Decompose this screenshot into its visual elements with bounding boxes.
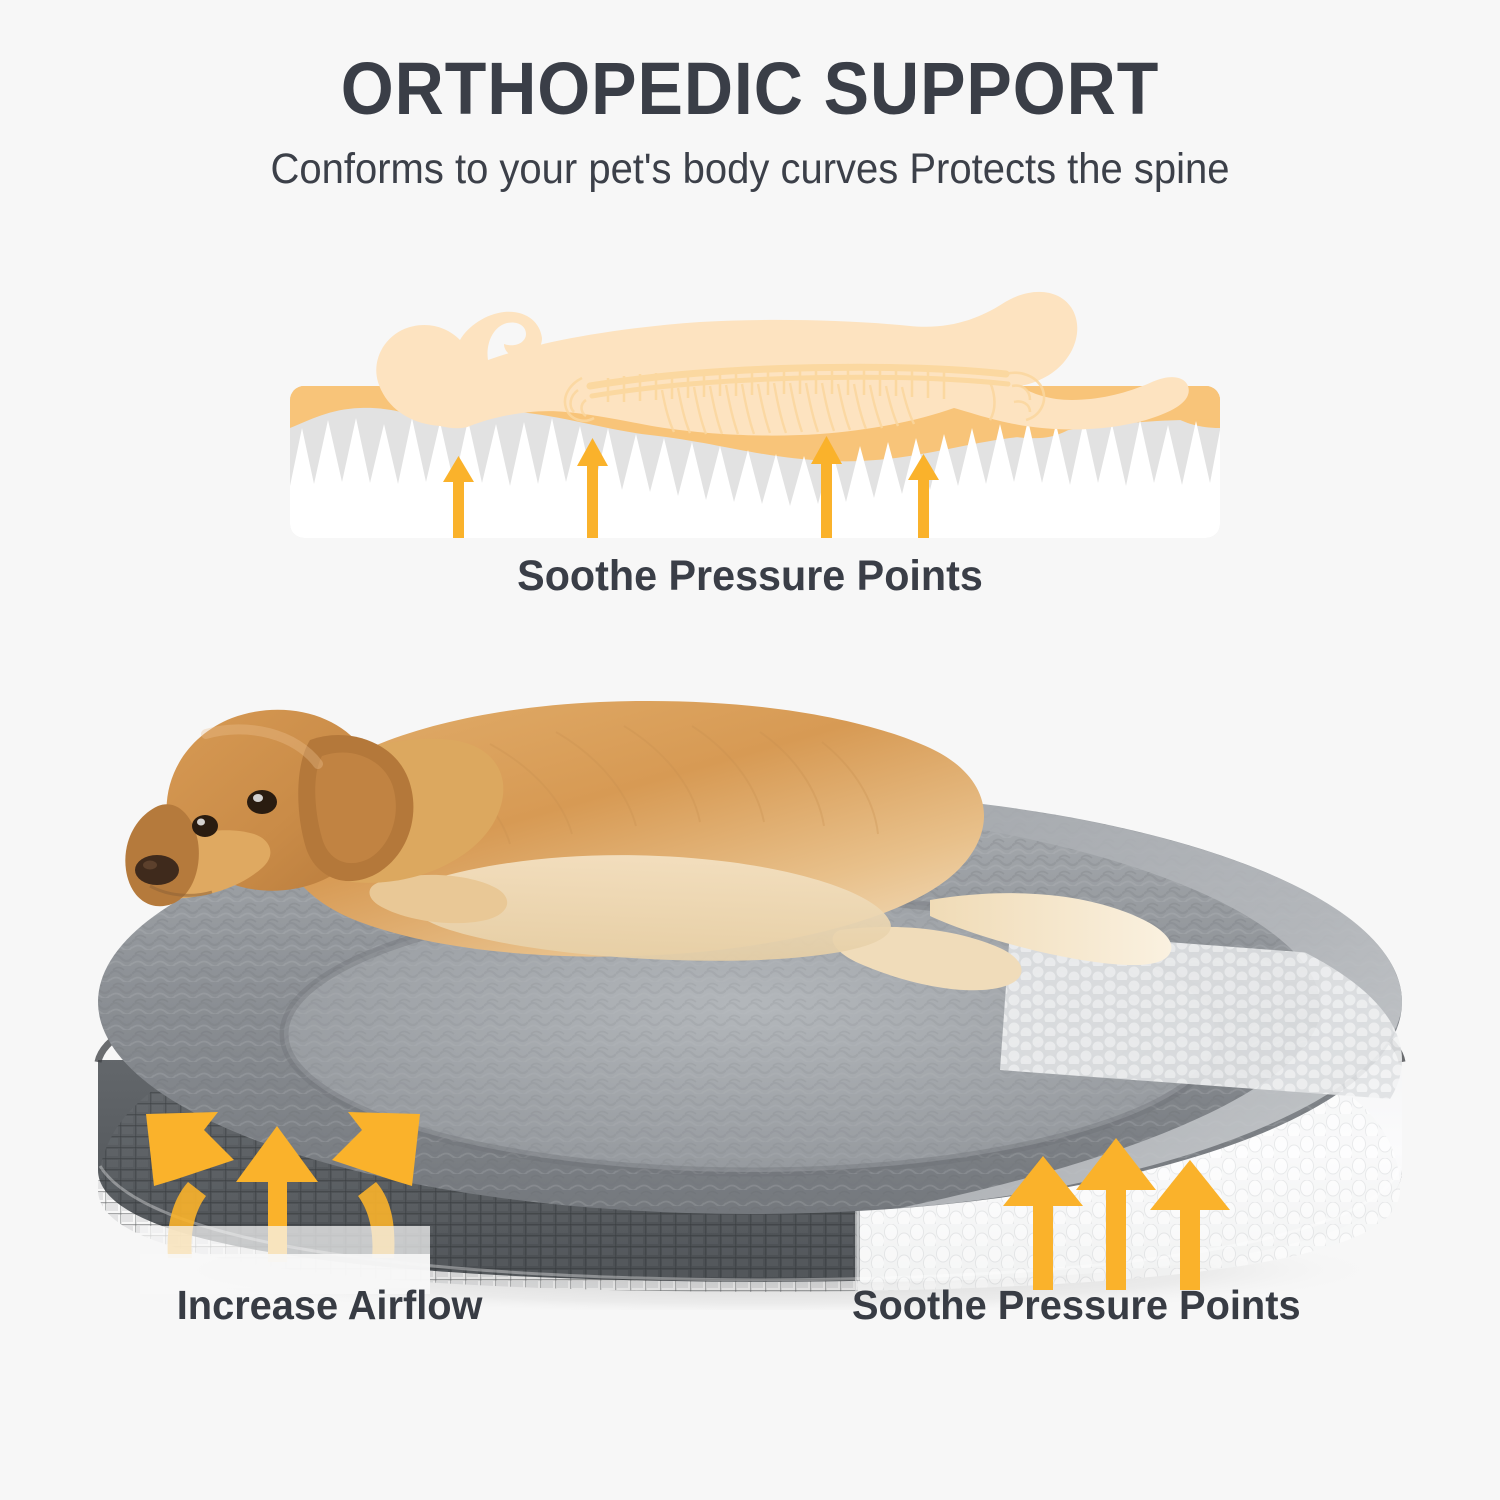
airflow-arrows	[140, 1112, 430, 1294]
caption-increase-airflow: Increase Airflow	[177, 1282, 483, 1329]
product-feature-page: ORTHOPEDIC SUPPORT Conforms to your pet'…	[0, 0, 1500, 1500]
dog-eye-far	[247, 790, 277, 814]
product-photo	[0, 630, 1500, 1310]
dog-nose	[135, 855, 179, 885]
diagram-caption: Soothe Pressure Points	[30, 552, 1470, 601]
header: ORTHOPEDIC SUPPORT Conforms to your pet'…	[0, 0, 1500, 193]
dog-eye-near	[192, 815, 218, 837]
page-title: ORTHOPEDIC SUPPORT	[60, 52, 1440, 126]
page-subtitle: Conforms to your pet's body curves Prote…	[53, 146, 1448, 193]
caption-soothe-pressure-points: Soothe Pressure Points	[852, 1282, 1301, 1329]
orthopedic-foam-diagram	[290, 278, 1220, 538]
dog-silhouette-with-skeleton	[376, 292, 1188, 436]
bottom-captions: Increase Airflow Soothe Pressure Points	[0, 1282, 1500, 1352]
